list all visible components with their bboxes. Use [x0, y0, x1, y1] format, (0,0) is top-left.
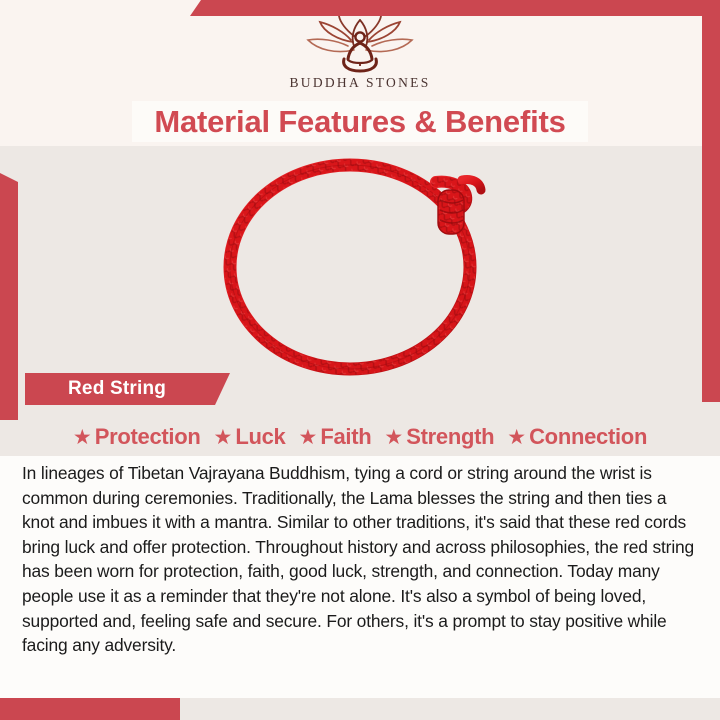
material-label: Red String — [68, 378, 166, 400]
brand-name: BUDDHA STONES — [0, 75, 720, 91]
left-red-accent-bar — [0, 173, 18, 420]
description-text: In lineages of Tibetan Vajrayana Buddhis… — [22, 461, 700, 658]
benefit-label: Connection — [529, 424, 647, 450]
benefits-list: ★ Protection ★ Luck ★ Faith ★ Strength ★… — [18, 419, 702, 455]
title-banner: Material Features & Benefits — [132, 101, 588, 142]
star-icon: ★ — [214, 427, 233, 448]
benefit-item-strength: ★ Strength — [384, 424, 494, 450]
benefit-item-connection: ★ Connection — [507, 424, 647, 450]
page-title: Material Features & Benefits — [154, 104, 565, 140]
product-image — [200, 150, 530, 385]
infographic-page: BUDDHA STONES Material Features & Benefi… — [0, 0, 720, 720]
lotus-meditation-figure-icon — [296, 16, 424, 74]
star-icon: ★ — [299, 427, 318, 448]
material-label-banner: Red String — [25, 373, 230, 405]
top-red-accent-bar — [190, 0, 720, 16]
benefit-item-faith: ★ Faith — [299, 424, 372, 450]
bottom-left-red-accent-bar — [0, 698, 180, 720]
benefit-item-luck: ★ Luck — [214, 424, 286, 450]
benefit-label: Strength — [406, 424, 494, 450]
benefit-label: Luck — [235, 424, 285, 450]
red-braided-bracelet-illustration — [200, 150, 530, 385]
star-icon: ★ — [73, 427, 92, 448]
adjustable-knot — [436, 179, 481, 234]
brand-logo: BUDDHA STONES — [0, 16, 720, 91]
benefit-item-protection: ★ Protection — [73, 424, 201, 450]
benefit-label: Protection — [95, 424, 201, 450]
star-icon: ★ — [507, 427, 526, 448]
star-icon: ★ — [384, 427, 403, 448]
benefit-label: Faith — [320, 424, 371, 450]
